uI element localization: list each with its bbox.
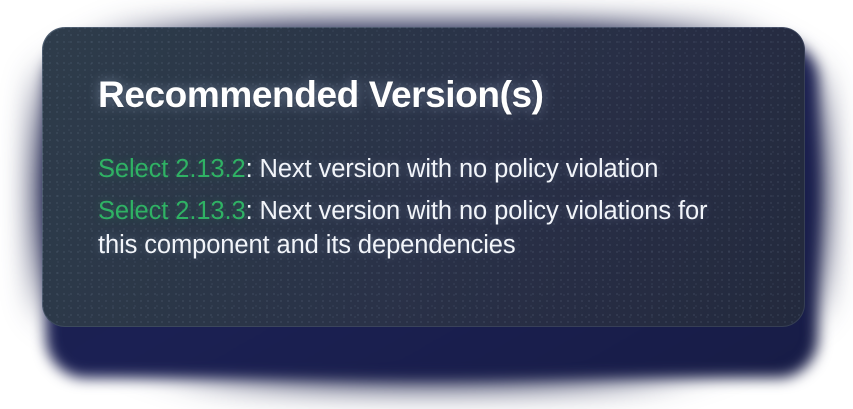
card-content: Recommended Version(s) Select 2.13.2: Ne…	[42, 27, 805, 262]
screenshot-stage: Recommended Version(s) Select 2.13.2: Ne…	[0, 0, 853, 409]
card-title: Recommended Version(s)	[98, 75, 749, 116]
select-version-link-2-13-3[interactable]: Select 2.13.3	[98, 197, 246, 225]
recommended-versions-card: Recommended Version(s) Select 2.13.2: Ne…	[42, 27, 805, 327]
recommendation-item-2: Select 2.13.3: Next version with no poli…	[98, 194, 749, 262]
recommendation-item-1: Select 2.13.2: Next version with no poli…	[98, 152, 749, 186]
recommendation-list: Select 2.13.2: Next version with no poli…	[98, 152, 749, 262]
select-version-link-2-13-2[interactable]: Select 2.13.2	[98, 155, 246, 183]
recommendation-description-1: : Next version with no policy violation	[246, 155, 659, 183]
